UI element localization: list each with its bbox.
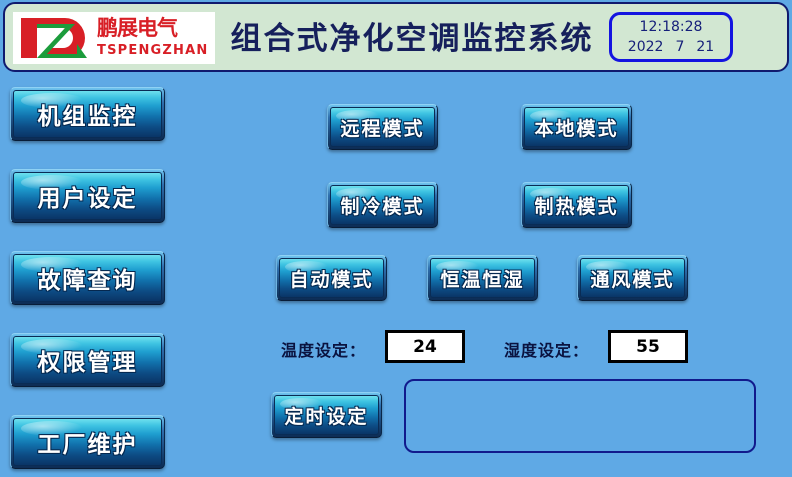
sidebar-item-label: 权限管理 (14, 337, 161, 383)
button-face: 自动模式 (279, 258, 384, 298)
mode-button-constant-temp-humidity[interactable]: 恒温恒湿 (427, 255, 538, 301)
clock-date: 2022721 (612, 39, 730, 55)
logo-mark-icon (17, 14, 95, 62)
button-face: 权限管理 (13, 336, 162, 384)
mode-button-label: 通风模式 (581, 259, 684, 297)
sidebar-item-factory-maintenance[interactable]: 工厂维护 (10, 415, 165, 469)
page-title: 组合式净化空调监控系统 (227, 16, 597, 62)
logo-brand-cn: 鹏展电气 (97, 15, 213, 42)
clock-day: 21 (696, 39, 714, 55)
sidebar-item-user-settings[interactable]: 用户设定 (10, 169, 165, 223)
sidebar-item-permission-management[interactable]: 权限管理 (10, 333, 165, 387)
clock-time: 12:18:28 (612, 19, 730, 35)
clock-month: 7 (675, 39, 684, 55)
button-face: 故障查询 (13, 254, 162, 302)
mode-button-local[interactable]: 本地模式 (521, 104, 632, 150)
button-face: 用户设定 (13, 172, 162, 220)
mode-button-label: 恒温恒湿 (431, 259, 534, 297)
company-logo: 鹏展电气 TSPENGZHAN (13, 12, 215, 64)
button-face: 制冷模式 (330, 185, 435, 225)
mode-button-label: 制冷模式 (331, 186, 434, 224)
sidebar-item-label: 故障查询 (14, 255, 161, 301)
timer-button-label: 定时设定 (275, 396, 378, 434)
sidebar-item-label: 工厂维护 (14, 419, 161, 465)
temperature-setpoint-label: 温度设定： (281, 337, 366, 361)
button-face: 机组监控 (13, 90, 162, 138)
clock-year: 2022 (628, 39, 664, 55)
header-bar: 鹏展电气 TSPENGZHAN 组合式净化空调监控系统 12:18:28 202… (3, 2, 789, 72)
mode-button-label: 远程模式 (331, 108, 434, 146)
button-face: 远程模式 (330, 107, 435, 147)
mode-button-label: 自动模式 (280, 259, 383, 297)
mode-button-heating[interactable]: 制热模式 (521, 182, 632, 228)
sidebar-item-label: 机组监控 (14, 91, 161, 137)
mode-button-ventilation[interactable]: 通风模式 (577, 255, 688, 301)
mode-button-remote[interactable]: 远程模式 (327, 104, 438, 150)
logo-brand-en: TSPENGZHAN (97, 42, 213, 60)
sidebar-item-unit-monitor[interactable]: 机组监控 (10, 87, 165, 141)
hmi-screen: 鹏展电气 TSPENGZHAN 组合式净化空调监控系统 12:18:28 202… (0, 0, 792, 477)
mode-button-label: 本地模式 (525, 108, 628, 146)
button-face: 本地模式 (524, 107, 629, 147)
button-face: 定时设定 (274, 395, 379, 435)
button-face: 通风模式 (580, 258, 685, 298)
temperature-setpoint-input[interactable]: 24 (385, 330, 465, 363)
humidity-setpoint-input[interactable]: 55 (608, 330, 688, 363)
sidebar-item-label: 用户设定 (14, 173, 161, 219)
mode-button-cooling[interactable]: 制冷模式 (327, 182, 438, 228)
button-face: 恒温恒湿 (430, 258, 535, 298)
mode-button-auto[interactable]: 自动模式 (276, 255, 387, 301)
alarm-message-panel[interactable] (404, 379, 756, 453)
timer-setting-button[interactable]: 定时设定 (271, 392, 382, 438)
mode-button-label: 制热模式 (525, 186, 628, 224)
button-face: 工厂维护 (13, 418, 162, 466)
clock-display: 12:18:28 2022721 (609, 12, 733, 62)
button-face: 制热模式 (524, 185, 629, 225)
sidebar-item-fault-query[interactable]: 故障查询 (10, 251, 165, 305)
humidity-setpoint-label: 湿度设定： (504, 337, 589, 361)
